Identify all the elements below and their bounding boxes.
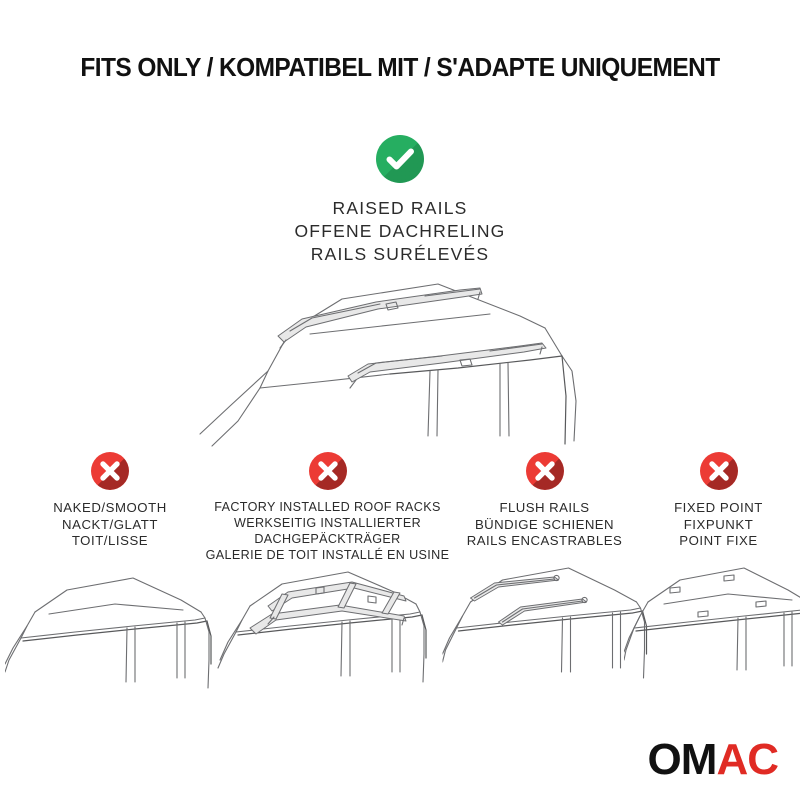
item-label-fr: POINT FIXE (637, 533, 800, 550)
item-label-fr: RAILS ENCASTRABLES (452, 533, 637, 550)
item-label-en: FACTORY INSTALLED ROOF RACKS (205, 500, 450, 516)
incompatible-item-factory-racks: FACTORY INSTALLED ROOF RACKS WERKSEITIG … (205, 452, 450, 563)
compatible-labels: RAISED RAILS OFFENE DACHRELING RAILS SUR… (0, 197, 800, 265)
item-label-de-2: DACHGEPÄCKTRÄGER (205, 532, 450, 548)
x-mark-icon (526, 452, 564, 490)
item-label-de: NACKT/GLATT (0, 517, 220, 534)
item-labels: FIXED POINT FIXPUNKT POINT FIXE (637, 500, 800, 550)
item-labels: FLUSH RAILS BÜNDIGE SCHIENEN RAILS ENCAS… (452, 500, 637, 550)
logo-text-dark: OM (648, 735, 717, 784)
x-circle-icon (526, 452, 564, 490)
x-mark-icon (700, 452, 738, 490)
item-label-de: BÜNDIGE SCHIENEN (452, 517, 637, 534)
car-roof-factory-racks-illustration (208, 548, 448, 693)
omac-logo: OMAC (648, 738, 778, 782)
logo-text-red: AC (716, 735, 778, 784)
item-label-de-1: WERKSEITIG INSTALLIERTER (205, 516, 450, 532)
page-title: FITS ONLY / KOMPATIBEL MIT / S'ADAPTE UN… (16, 54, 784, 83)
compatible-label-en: RAISED RAILS (0, 197, 800, 220)
car-roof-naked-smooth-illustration (5, 560, 215, 700)
compatible-label-fr: RAILS SURÉLEVÉS (0, 243, 800, 266)
incompatible-item-flush-rails: FLUSH RAILS BÜNDIGE SCHIENEN RAILS ENCAS… (452, 452, 637, 550)
item-label-fr: TOIT/LISSE (0, 533, 220, 550)
compatible-section: RAISED RAILS OFFENE DACHRELING RAILS SUR… (0, 135, 800, 265)
x-mark-icon (309, 452, 347, 490)
x-circle-icon (91, 452, 129, 490)
item-labels: NAKED/SMOOTH NACKT/GLATT TOIT/LISSE (0, 500, 220, 550)
x-circle-icon (309, 452, 347, 490)
car-roof-flush-rails-illustration (442, 552, 647, 692)
header: FITS ONLY / KOMPATIBEL MIT / S'ADAPTE UN… (0, 54, 800, 83)
incompatible-section: NAKED/SMOOTH NACKT/GLATT TOIT/LISSE (0, 452, 800, 702)
x-circle-icon (700, 452, 738, 490)
incompatible-item-naked-smooth: NAKED/SMOOTH NACKT/GLATT TOIT/LISSE (0, 452, 220, 550)
compatible-label-de: OFFENE DACHRELING (0, 220, 800, 243)
incompatible-item-fixed-point: FIXED POINT FIXPUNKT POINT FIXE (637, 452, 800, 550)
item-label-en: FLUSH RAILS (452, 500, 637, 517)
car-roof-raised-rails-illustration (190, 276, 610, 456)
item-label-en: NAKED/SMOOTH (0, 500, 220, 517)
check-mark-icon (376, 135, 424, 183)
x-mark-icon (91, 452, 129, 490)
check-circle-icon (376, 135, 424, 183)
item-label-de: FIXPUNKT (637, 517, 800, 534)
car-roof-fixed-point-illustration (624, 552, 800, 692)
item-label-en: FIXED POINT (637, 500, 800, 517)
